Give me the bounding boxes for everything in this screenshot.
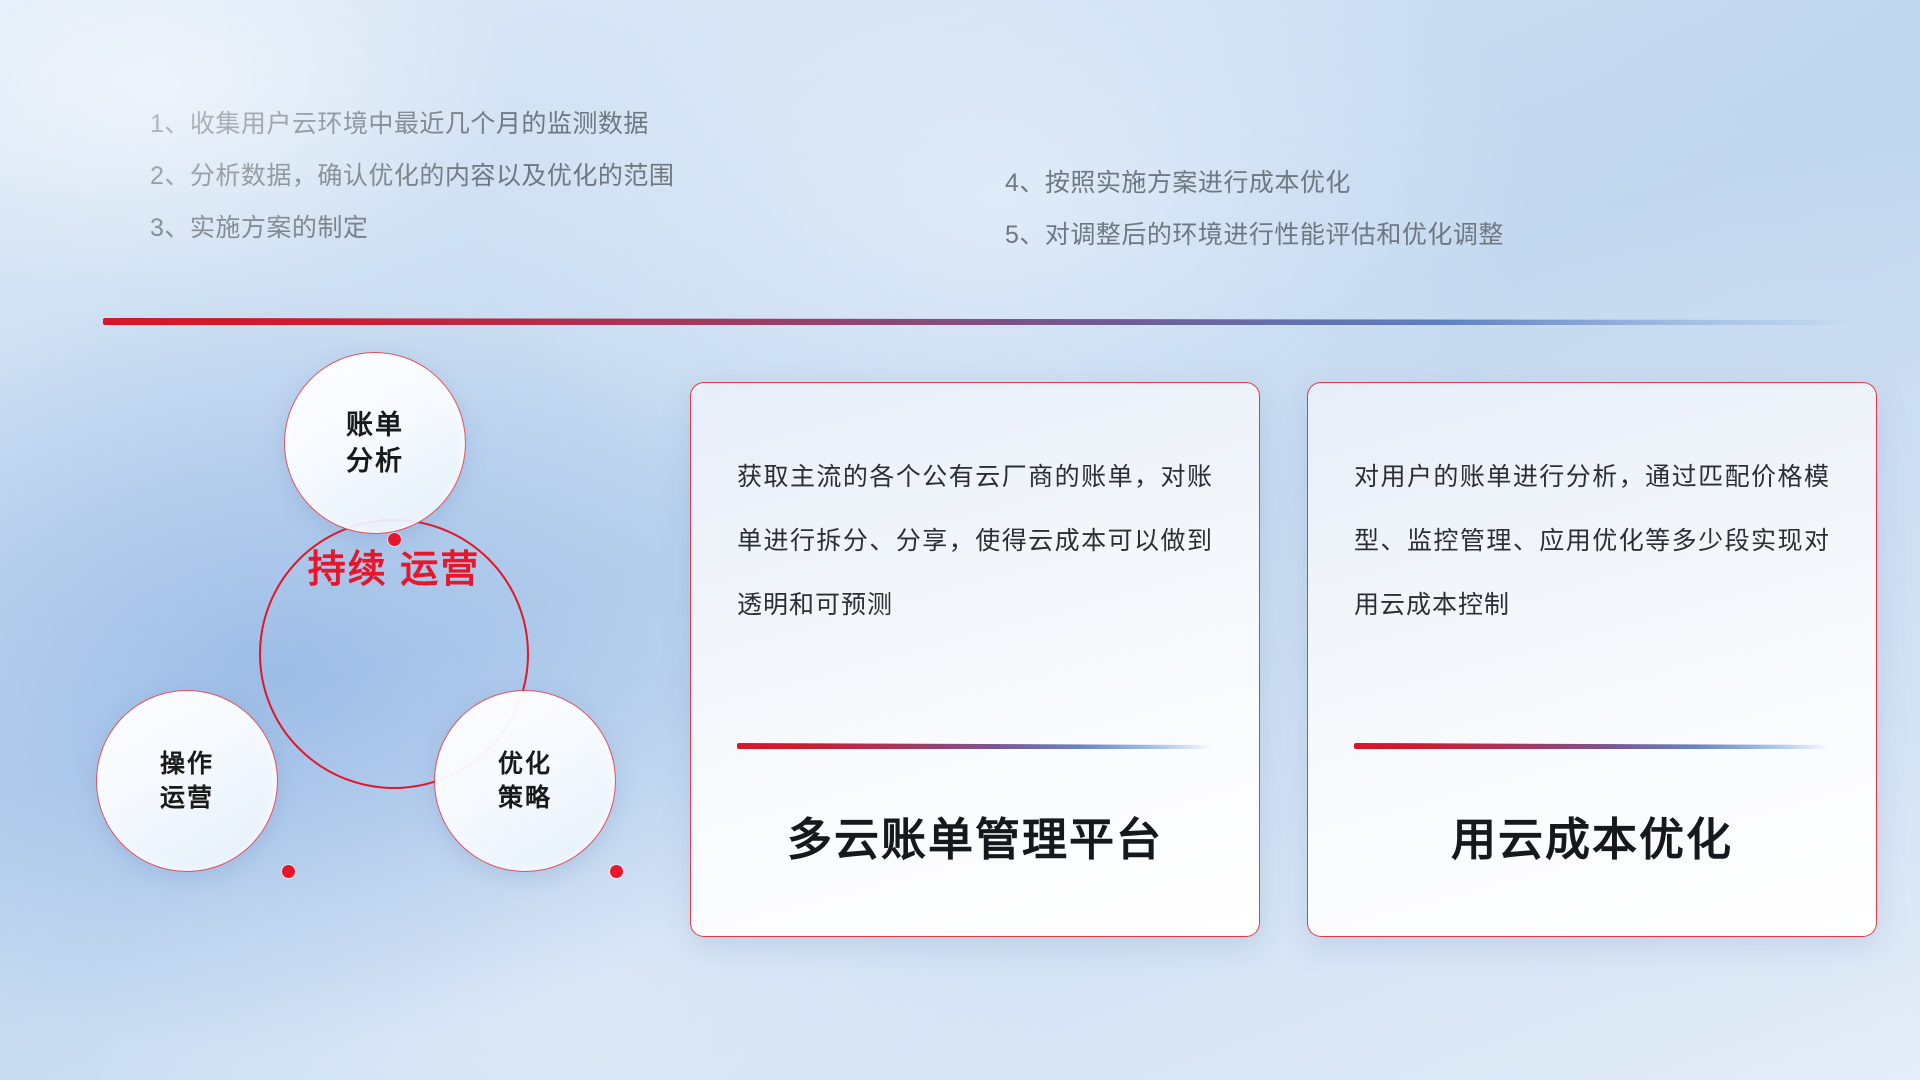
- steps-left-column: 1、收集用户云环境中最近几个月的监测数据 2、分析数据，确认优化的内容以及优化的…: [150, 98, 674, 254]
- step-item-2: 2、分析数据，确认优化的内容以及优化的范围: [150, 150, 674, 202]
- cycle-node-optimization-strategy-line1: 优化: [498, 747, 552, 781]
- cycle-connector-dot-right: [610, 865, 623, 878]
- step-item-4: 4、按照实施方案进行成本优化: [1005, 157, 1504, 209]
- cycle-node-operations-line2: 运营: [160, 781, 214, 815]
- step-item-1: 1、收集用户云环境中最近几个月的监测数据: [150, 98, 674, 150]
- cycle-connector-dot-left: [282, 865, 295, 878]
- cycle-node-billing-analysis-line1: 账单: [346, 407, 404, 443]
- card-cloud-cost-optimization-body: 对用户的账单进行分析，通过匹配价格模型、监控管理、应用优化等多少段实现对用云成本…: [1354, 445, 1830, 637]
- cycle-node-optimization-strategy-line2: 策略: [498, 781, 552, 815]
- card-multicloud-billing-divider: [737, 743, 1213, 749]
- card-multicloud-billing[interactable]: 获取主流的各个公有云厂商的账单，对账单进行拆分、分享，使得云成本可以做到透明和可…: [690, 382, 1260, 937]
- cycle-node-operations-line1: 操作: [160, 747, 214, 781]
- step-item-5: 5、对调整后的环境进行性能评估和优化调整: [1005, 209, 1504, 261]
- cycle-node-optimization-strategy[interactable]: 优化 策略: [434, 690, 616, 872]
- card-multicloud-billing-title: 多云账单管理平台: [737, 803, 1213, 868]
- slide-canvas: 1、收集用户云环境中最近几个月的监测数据 2、分析数据，确认优化的内容以及优化的…: [0, 0, 1920, 1080]
- cycle-node-billing-analysis-line2: 分析: [346, 443, 404, 479]
- steps-right-column: 4、按照实施方案进行成本优化 5、对调整后的环境进行性能评估和优化调整: [1005, 157, 1504, 261]
- card-cloud-cost-optimization-title: 用云成本优化: [1354, 803, 1830, 868]
- cycle-connector-dot-top: [388, 533, 401, 546]
- cycle-node-billing-analysis[interactable]: 账单 分析: [284, 352, 466, 534]
- cycle-diagram: 持续 运营 账单 分析 操作 运营 优化 策略: [92, 352, 632, 932]
- card-cloud-cost-optimization-divider: [1354, 743, 1830, 749]
- card-cloud-cost-optimization[interactable]: 对用户的账单进行分析，通过匹配价格模型、监控管理、应用优化等多少段实现对用云成本…: [1307, 382, 1877, 937]
- cycle-center-label-line1: 持续: [308, 549, 388, 591]
- cycle-node-operations[interactable]: 操作 运营: [96, 690, 278, 872]
- cycle-center-label-line2: 运营: [400, 549, 480, 591]
- section-divider: [103, 318, 1858, 325]
- card-multicloud-billing-body: 获取主流的各个公有云厂商的账单，对账单进行拆分、分享，使得云成本可以做到透明和可…: [737, 445, 1213, 637]
- cycle-center-label: 持续 运营: [259, 547, 529, 593]
- step-item-3: 3、实施方案的制定: [150, 202, 674, 254]
